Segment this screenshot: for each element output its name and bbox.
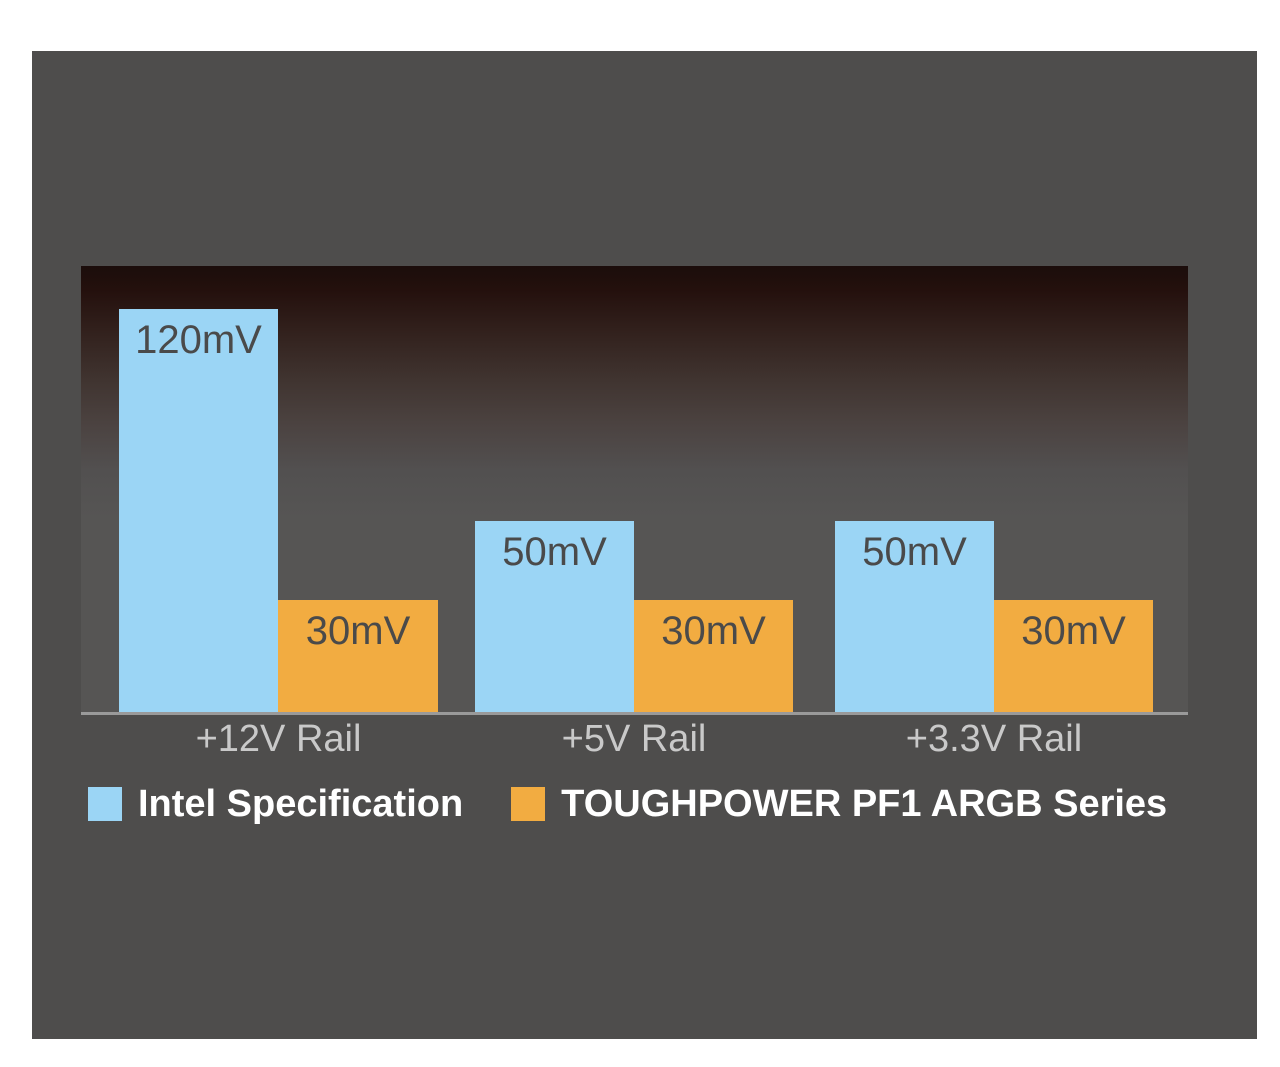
bar-toughpower-33v[interactable]: 30mV — [994, 600, 1153, 712]
chart-legend: Intel Specification TOUGHPOWER PF1 ARGB … — [88, 783, 1167, 825]
axis-label-text: +12V Rail — [196, 718, 362, 760]
axis-label-33v-rail: +3.3V Rail — [835, 718, 1153, 761]
bar-intel-12v[interactable]: 120mV — [119, 309, 278, 712]
legend-item-intel-specification[interactable]: Intel Specification — [88, 785, 463, 823]
bar-value-label: 50mV — [475, 531, 634, 573]
bar-value-label: 120mV — [119, 319, 278, 361]
bars-layer: 120mV 30mV 50mV 30mV 50mV 30mV — [32, 51, 1257, 1039]
bar-value-label: 30mV — [994, 610, 1153, 652]
axis-label-12v-rail: +12V Rail — [119, 718, 438, 761]
bar-value-label: 30mV — [634, 610, 793, 652]
axis-label-5v-rail: +5V Rail — [475, 718, 793, 761]
x-axis-line — [81, 712, 1188, 715]
legend-swatch-icon — [88, 787, 122, 821]
chart-card: 120mV 30mV 50mV 30mV 50mV 30mV +12V Rail… — [32, 51, 1257, 1039]
bar-value-label: 30mV — [278, 610, 438, 652]
bar-toughpower-5v[interactable]: 30mV — [634, 600, 793, 712]
bar-intel-5v[interactable]: 50mV — [475, 521, 634, 712]
legend-swatch-icon — [511, 787, 545, 821]
legend-item-toughpower-pf1-argb-series[interactable]: TOUGHPOWER PF1 ARGB Series — [511, 785, 1167, 823]
bar-toughpower-12v[interactable]: 30mV — [278, 600, 438, 712]
bar-intel-33v[interactable]: 50mV — [835, 521, 994, 712]
axis-label-text: +3.3V Rail — [906, 718, 1082, 760]
axis-label-text: +5V Rail — [562, 718, 707, 760]
bar-value-label: 50mV — [835, 531, 994, 573]
legend-item-label: TOUGHPOWER PF1 ARGB Series — [561, 785, 1167, 823]
legend-item-label: Intel Specification — [138, 785, 463, 823]
